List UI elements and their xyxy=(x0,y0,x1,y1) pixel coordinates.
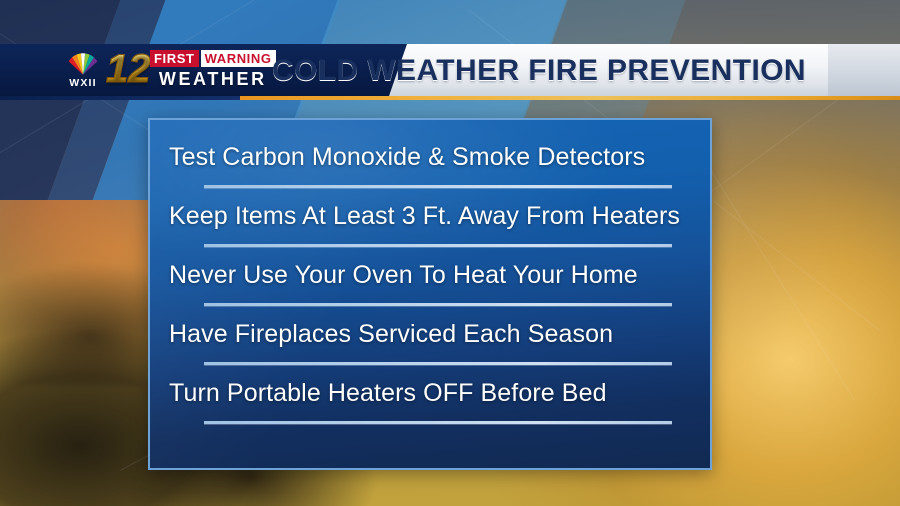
tip-text: Keep Items At Least 3 Ft. Away From Heat… xyxy=(150,201,710,231)
page-title: COLD WEATHER FIRE PREVENTION xyxy=(272,50,806,92)
brand-first-label: FIRST xyxy=(150,50,199,67)
tips-panel: Test Carbon Monoxide & Smoke DetectorsKe… xyxy=(148,118,712,470)
tip-divider xyxy=(204,185,672,188)
nbc-peacock-icon xyxy=(66,50,100,76)
tip-item: Never Use Your Oven To Heat Your Home xyxy=(150,260,710,306)
brand-warning-label: WARNING xyxy=(201,50,276,67)
tip-item: Turn Portable Heaters OFF Before Bed xyxy=(150,378,710,424)
broadcast-graphic: WXII 12 FIRST WARNING WEATHER COLD WEATH… xyxy=(0,0,900,506)
channel-number: 12 xyxy=(106,46,151,92)
tip-text: Never Use Your Oven To Heat Your Home xyxy=(150,260,710,290)
station-call-letters: WXII xyxy=(62,77,104,89)
tip-divider xyxy=(204,362,672,365)
tip-item: Test Carbon Monoxide & Smoke Detectors xyxy=(150,142,710,188)
header-gold-accent-line xyxy=(236,96,900,100)
tip-text: Turn Portable Heaters OFF Before Bed xyxy=(150,378,710,408)
tip-item: Have Fireplaces Serviced Each Season xyxy=(150,319,710,365)
tip-text: Test Carbon Monoxide & Smoke Detectors xyxy=(150,142,710,172)
brand-weather-label: WEATHER xyxy=(150,68,276,90)
tip-divider xyxy=(204,244,672,247)
tip-item: Keep Items At Least 3 Ft. Away From Heat… xyxy=(150,201,710,247)
tip-text: Have Fireplaces Serviced Each Season xyxy=(150,319,710,349)
first-warning-weather-lockup: FIRST WARNING WEATHER xyxy=(150,50,276,90)
tips-list: Test Carbon Monoxide & Smoke DetectorsKe… xyxy=(150,120,710,424)
tip-divider xyxy=(204,421,672,424)
station-logo: WXII xyxy=(62,50,104,94)
header-blue-accent-line xyxy=(0,96,240,100)
header-title-plate-end xyxy=(828,44,900,96)
tip-divider xyxy=(204,303,672,306)
